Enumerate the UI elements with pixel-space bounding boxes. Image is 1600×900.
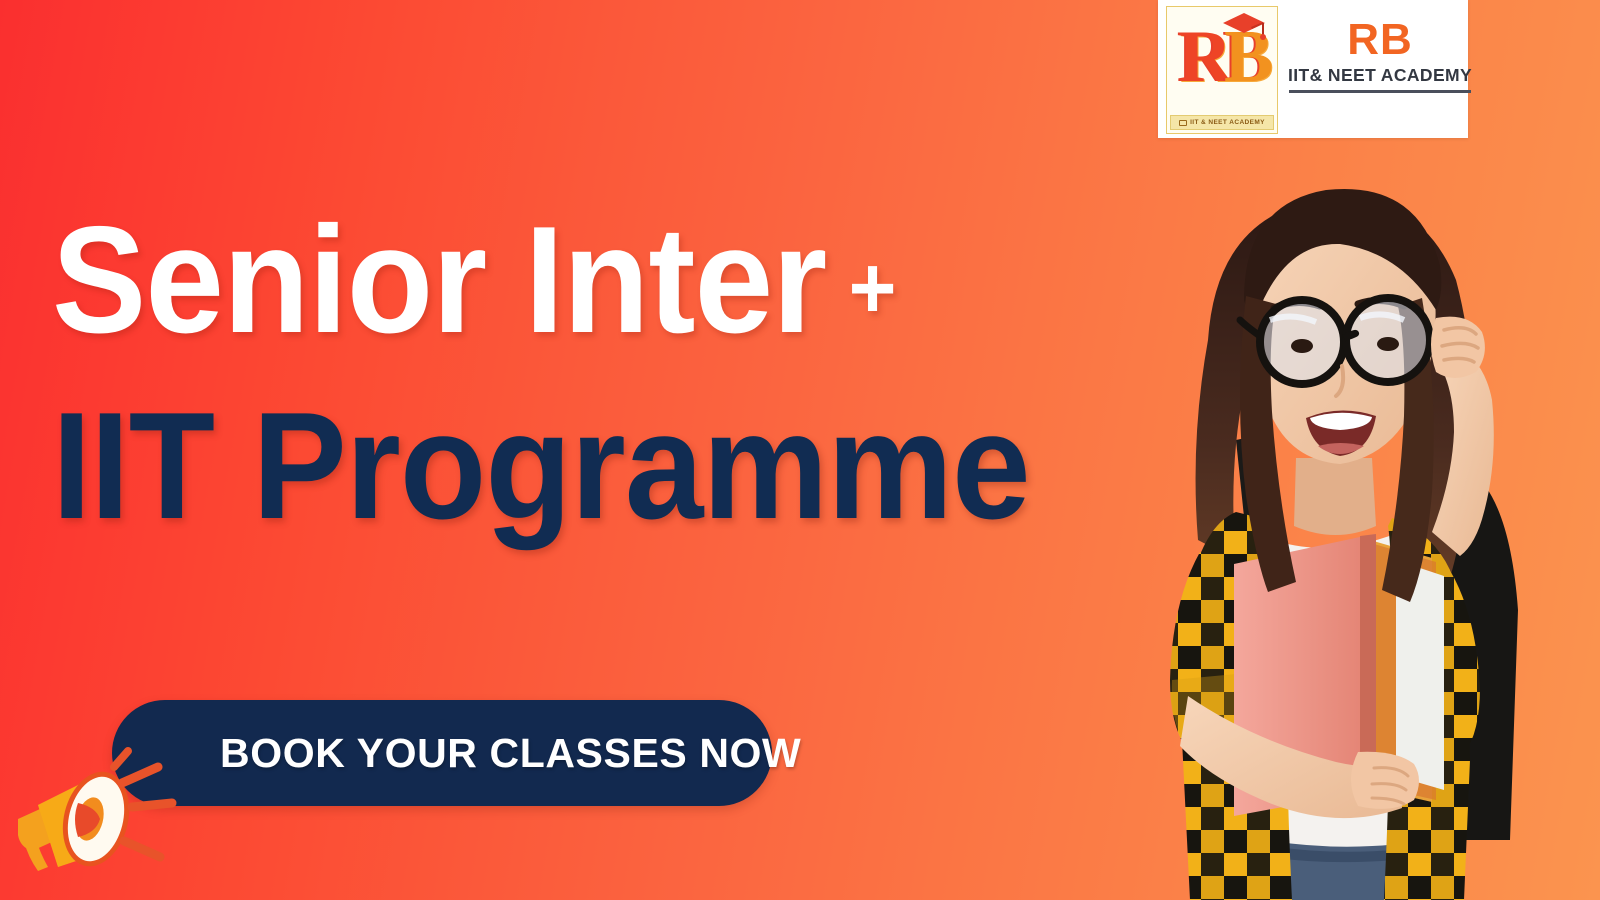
open-book-icon bbox=[1179, 120, 1187, 126]
logo-monogram-box: RB IIT & NEET ACADEMY bbox=[1166, 6, 1278, 134]
logo-subtitle: IIT& NEET ACADEMY bbox=[1288, 65, 1472, 86]
student-photo bbox=[1040, 140, 1600, 900]
headline-plus-sign: + bbox=[849, 238, 896, 337]
book-classes-button[interactable]: BOOK YOUR CLASSES NOW bbox=[112, 700, 772, 806]
graduation-cap-icon bbox=[1221, 11, 1267, 41]
headline-line-2: IIT Programme bbox=[52, 391, 982, 541]
headline-block: Senior Inter+ IIT Programme bbox=[52, 205, 1052, 541]
logo-brand-name: RB bbox=[1288, 18, 1472, 62]
round-glasses-icon bbox=[1240, 298, 1452, 384]
headline-line-1: Senior Inter+ bbox=[52, 205, 982, 363]
book-classes-button-label: BOOK YOUR CLASSES NOW bbox=[112, 700, 772, 806]
logo-text-block: RB IIT& NEET ACADEMY bbox=[1278, 0, 1480, 138]
academy-logo-card: RB IIT & NEET ACADEMY RB IIT& NEET ACADE… bbox=[1158, 0, 1468, 138]
promo-banner: RB IIT & NEET ACADEMY RB IIT& NEET ACADE… bbox=[0, 0, 1600, 900]
logo-letter-r: R bbox=[1179, 16, 1224, 98]
logo-bottom-bar: IIT & NEET ACADEMY bbox=[1170, 115, 1274, 130]
headline-line-1-text: Senior Inter bbox=[52, 195, 826, 365]
logo-underline-rule bbox=[1289, 90, 1471, 93]
logo-bottom-bar-text: IIT & NEET ACADEMY bbox=[1190, 119, 1265, 126]
